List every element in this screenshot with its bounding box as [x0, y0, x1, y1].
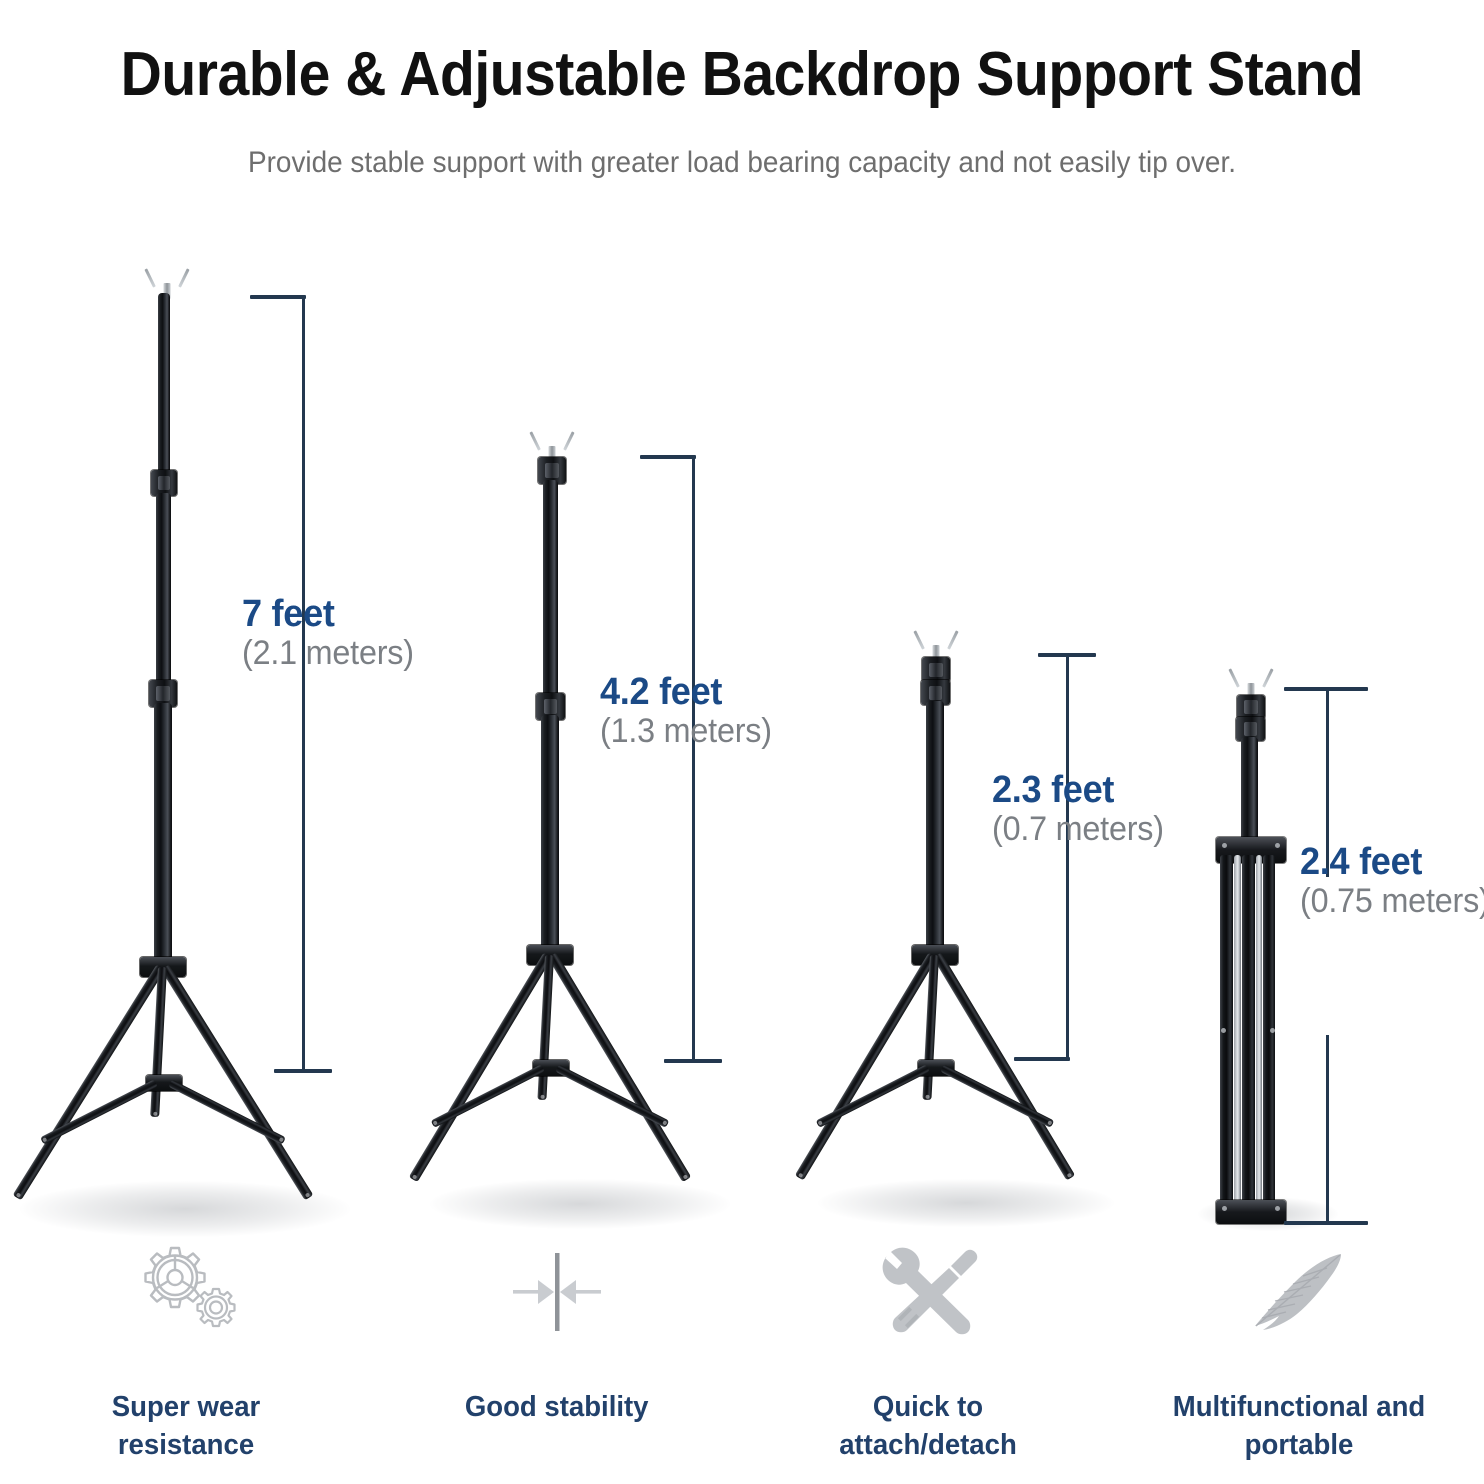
tripod-brace-left	[431, 1064, 545, 1127]
dimension-label-1: 7 feet (2.1 meters)	[242, 595, 423, 672]
dimension-meters-2: (1.3 meters)	[600, 713, 772, 750]
gears-icon	[130, 1242, 242, 1342]
ground-shadow	[430, 1179, 730, 1229]
feature-label-multifunctional-portable: Multifunctional and portable	[1156, 1388, 1441, 1465]
dimension-meters-4: (0.75 meters)	[1300, 883, 1484, 920]
tripod-brace-right	[555, 1064, 669, 1127]
dimension-label-4: 2.4 feet (0.75 meters)	[1300, 843, 1484, 920]
center-column-base	[541, 715, 559, 960]
feature-good-stability: Good stability	[371, 1240, 742, 1484]
feature-multifunctional-portable: Multifunctional and portable	[1113, 1240, 1484, 1484]
center-column-base	[154, 703, 172, 973]
product-infographic: Durable & Adjustable Backdrop Support St…	[0, 0, 1484, 1484]
folded-hub-bottom	[1216, 1200, 1286, 1224]
dimension-feet-2: 4.2 feet	[600, 673, 772, 713]
center-column-mid	[156, 493, 171, 688]
center-column-mid	[543, 480, 558, 700]
tripod-leg-right	[161, 964, 314, 1200]
dimension-label-3: 2.3 feet (0.7 meters)	[992, 771, 1173, 848]
dimension-label-2: 4.2 feet (1.3 meters)	[600, 673, 781, 750]
feather-icon	[1241, 1246, 1357, 1338]
feature-icon-wrapper	[1241, 1240, 1357, 1344]
dimension-feet-1: 7 feet	[242, 595, 414, 635]
tools-icon	[873, 1242, 983, 1342]
header: Durable & Adjustable Backdrop Support St…	[0, 0, 1484, 178]
tripod-brace-left	[40, 1079, 158, 1144]
stand-4-folded	[1180, 265, 1360, 1225]
stands-illustration: 7 feet (2.1 meters)	[0, 215, 1484, 1225]
center-column-base	[926, 701, 944, 959]
spigot-icon	[916, 627, 956, 661]
dimension-feet-3: 2.3 feet	[992, 771, 1164, 811]
dimension-feet-4: 2.4 feet	[1300, 843, 1484, 883]
feature-label-quick-attach-detach: Quick to attach/detach	[785, 1388, 1070, 1465]
lock-collar-upper	[922, 657, 950, 682]
stand-1-full-height	[0, 265, 380, 1225]
features-row: Super wear resistance Good stability	[0, 1240, 1484, 1484]
tripod-brace-right	[940, 1064, 1054, 1127]
tripod-brace-left	[816, 1064, 930, 1127]
center-column	[158, 293, 170, 483]
lock-collar-upper	[1237, 695, 1265, 719]
page-subtitle: Provide stable support with greater load…	[52, 106, 1432, 178]
stand-3-low-height	[790, 265, 1140, 1225]
tripod-leg-right	[933, 952, 1075, 1180]
feature-icon-wrapper	[873, 1240, 983, 1344]
tripod-leg-right	[548, 952, 692, 1182]
stability-icon	[501, 1247, 613, 1337]
feature-label-super-wear-resistance: Super wear resistance	[43, 1388, 328, 1465]
feature-icon-wrapper	[130, 1240, 242, 1344]
center-column-base	[1241, 737, 1258, 847]
tripod-brace-right	[168, 1079, 286, 1144]
feature-super-wear-resistance: Super wear resistance	[0, 1240, 371, 1484]
dimension-meters-1: (2.1 meters)	[242, 635, 414, 672]
folded-joint-mid	[1218, 1025, 1278, 1037]
page-title: Durable & Adjustable Backdrop Support St…	[59, 0, 1424, 106]
dimension-meters-3: (0.7 meters)	[992, 811, 1164, 848]
tripod-leg-left	[795, 952, 937, 1180]
tripod-leg-left	[409, 952, 553, 1182]
feature-icon-wrapper	[501, 1240, 613, 1344]
feature-label-good-stability: Good stability	[465, 1388, 649, 1426]
spigot-icon	[1231, 665, 1271, 699]
ground-shadow	[818, 1179, 1114, 1227]
feature-quick-attach-detach: Quick to attach/detach	[742, 1240, 1113, 1484]
tripod-leg-left	[13, 964, 166, 1200]
